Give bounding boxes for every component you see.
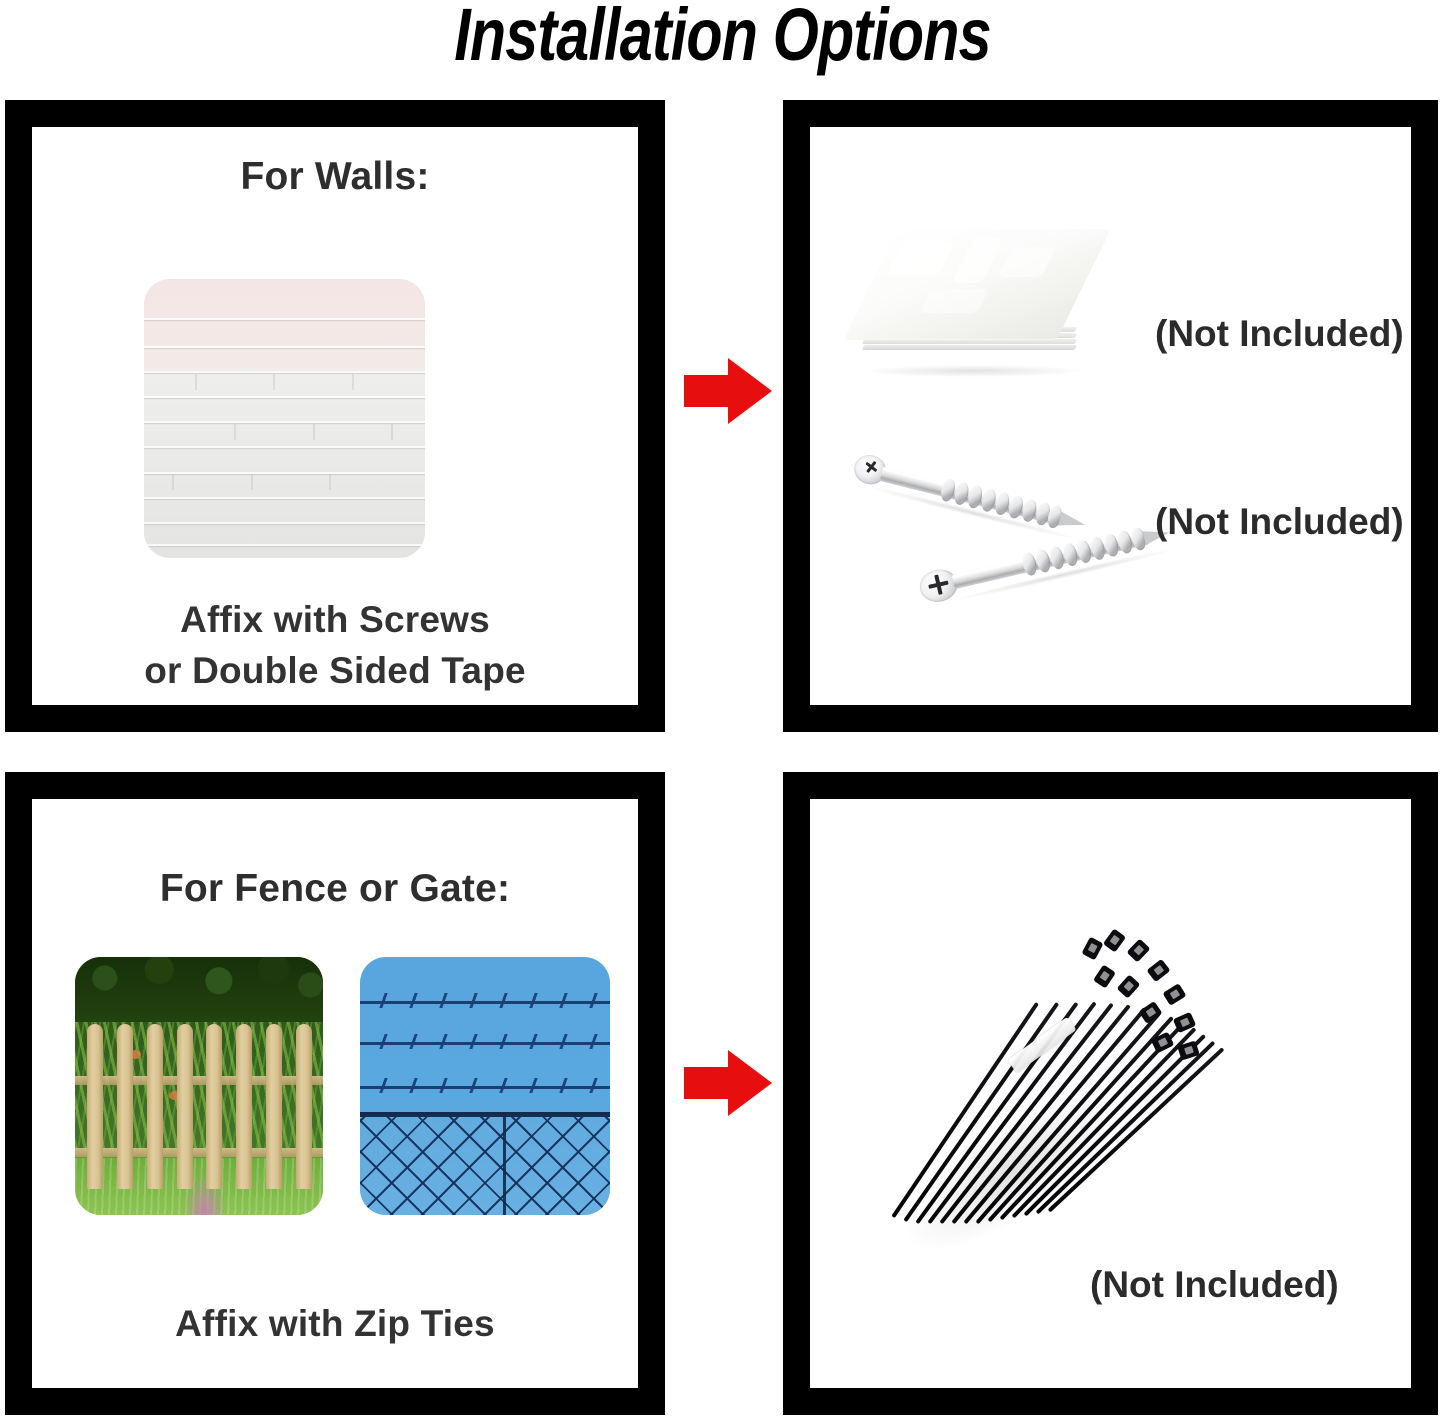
tape-not-included-label: (Not Included) xyxy=(1155,313,1404,355)
screws-not-included-label: (Not Included) xyxy=(1155,501,1404,543)
caption-affix-with-zip-ties: Affix with Zip Ties xyxy=(5,1303,665,1345)
panel-heading-for-fence-or-gate: For Fence or Gate: xyxy=(32,867,638,911)
page-title: Installation Options xyxy=(145,0,1301,74)
panel-for-walls-content: For Walls: Affix with Screws or Double S xyxy=(32,127,638,705)
wooden-picket-fence-photo xyxy=(75,957,323,1215)
right-arrow-icon-top xyxy=(684,358,772,424)
black-zip-ties-bundle-image xyxy=(845,915,1265,1285)
double-sided-tape-stack-image xyxy=(855,227,1100,387)
caption-affix-with-screws: Affix with Screws xyxy=(32,599,638,641)
panel-for-walls: For Walls: Affix with Screws or Double S xyxy=(5,100,665,732)
right-arrow-icon-bottom xyxy=(684,1050,772,1116)
chain-link-barbed-wire-photo xyxy=(360,957,610,1215)
caption-or-double-sided-tape: or Double Sided Tape xyxy=(32,650,638,692)
panel-heading-for-walls: For Walls: xyxy=(32,155,638,199)
white-brick-wall-image xyxy=(144,279,425,558)
panel-wall-hardware-content: (Not Included) xyxy=(810,127,1411,705)
panel-wall-hardware: (Not Included) xyxy=(783,100,1438,732)
